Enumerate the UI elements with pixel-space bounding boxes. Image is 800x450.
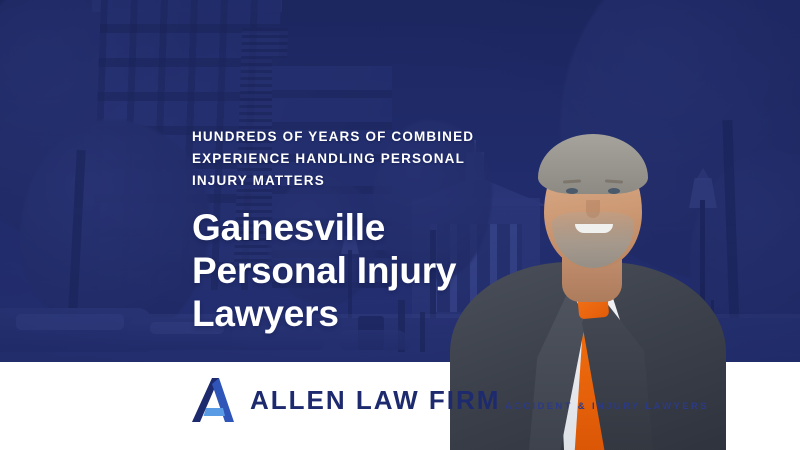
mouth <box>575 224 613 233</box>
nose <box>586 200 600 218</box>
eye-left <box>566 188 578 194</box>
eye-right <box>608 188 620 194</box>
brand-logo[interactable]: ALLEN LAW FIRM ACCIDENT & INJURY LAWYERS <box>192 378 709 422</box>
allen-law-firm-a-icon <box>192 378 234 422</box>
logo-tagline: ACCIDENT & INJURY LAWYERS <box>505 401 709 412</box>
logo-company-name: ALLEN LAW FIRM <box>250 385 500 415</box>
hair <box>538 134 648 194</box>
logo-wordmark: ALLEN LAW FIRM ACCIDENT & INJURY LAWYERS <box>250 386 709 414</box>
hero-banner: HUNDREDS OF YEARS OF COMBINED EXPERIENCE… <box>0 0 800 450</box>
